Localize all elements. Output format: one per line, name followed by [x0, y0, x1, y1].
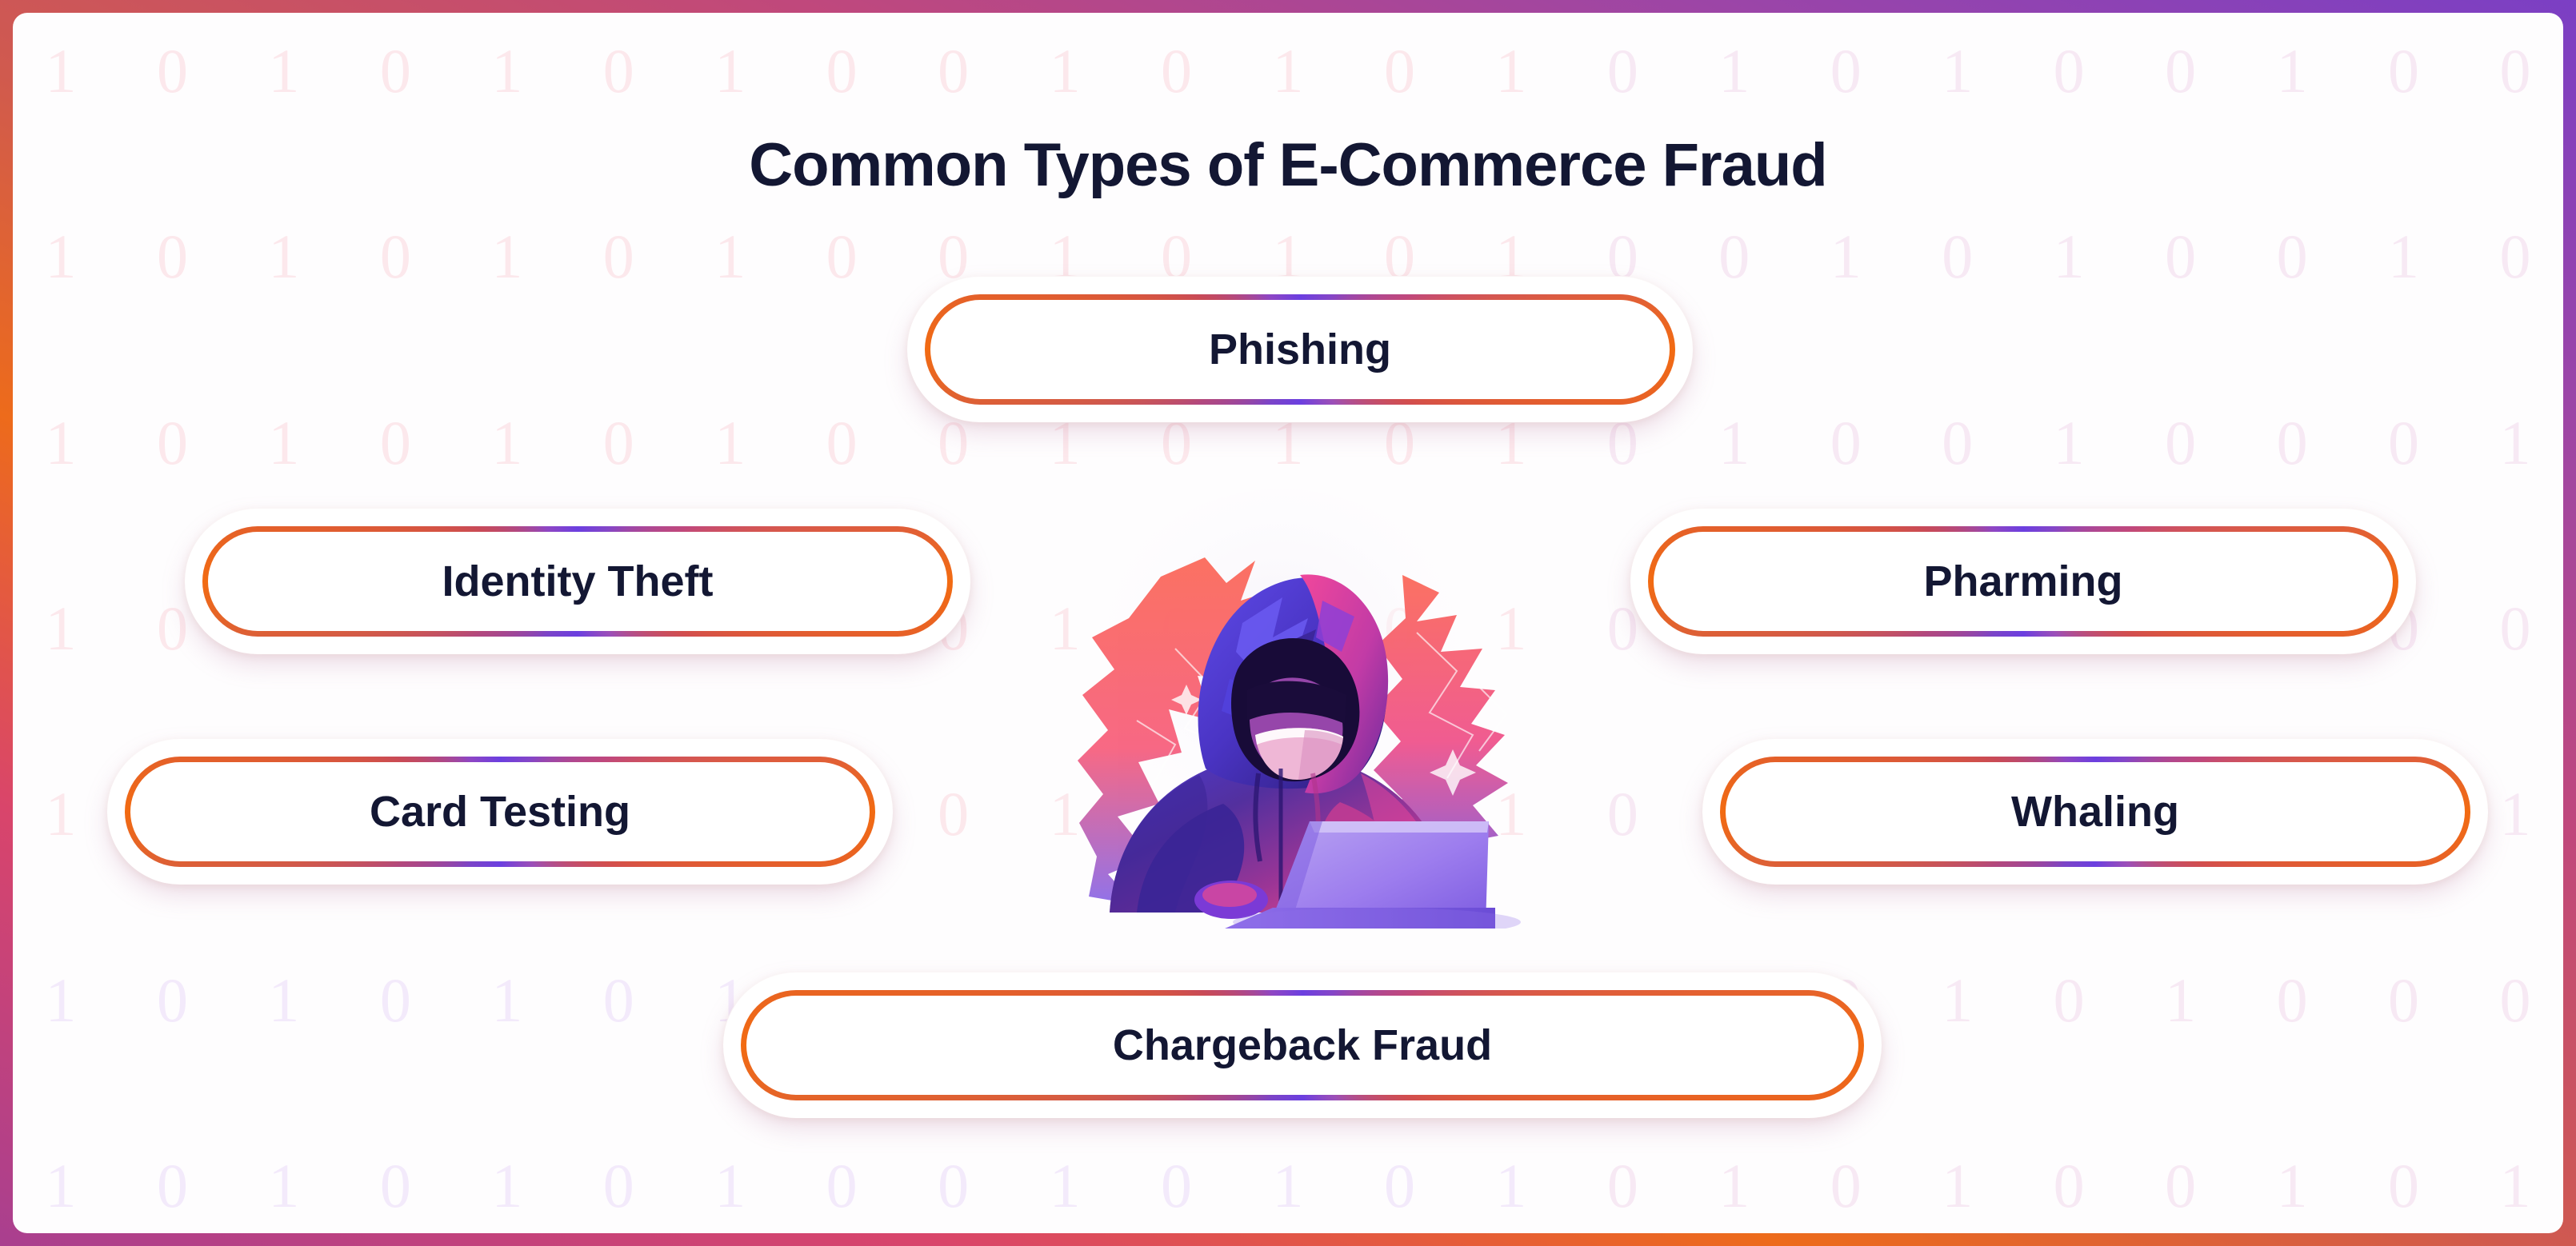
binary-digit: 1 — [706, 412, 754, 474]
fraud-pill-label: Phishing — [1209, 328, 1391, 371]
binary-digit: 0 — [1153, 40, 1201, 102]
page-title: Common Types of E-Commerce Fraud — [13, 130, 2563, 200]
binary-digit: 0 — [2045, 969, 2093, 1032]
fraud-pill-label: Pharming — [1923, 560, 2122, 603]
binary-digit: 0 — [594, 969, 642, 1032]
fraud-pill-label: Identity Theft — [442, 560, 714, 603]
pill-gradient-ring: Pharming — [1648, 526, 2398, 637]
binary-digit: 0 — [2045, 1155, 2093, 1217]
pill-gradient-ring: Chargeback Fraud — [741, 990, 1864, 1100]
binary-digit: 0 — [2268, 969, 2316, 1032]
binary-digit: 1 — [483, 969, 531, 1032]
binary-digit: 1 — [260, 1155, 308, 1217]
binary-digit: 0 — [1822, 1155, 1870, 1217]
binary-digit: 1 — [1822, 226, 1870, 288]
binary-digit: 1 — [1041, 1155, 1089, 1217]
binary-digit: 0 — [148, 1155, 196, 1217]
binary-digit: 1 — [260, 412, 308, 474]
binary-digit: 0 — [1598, 783, 1646, 845]
binary-digit: 0 — [2491, 40, 2539, 102]
binary-digit: 0 — [930, 40, 978, 102]
binary-digit: 1 — [1934, 40, 1982, 102]
fraud-pill-identity-theft[interactable]: Identity Theft — [185, 509, 970, 654]
binary-digit: 1 — [2380, 226, 2428, 288]
binary-digit: 0 — [371, 1155, 419, 1217]
binary-digit: 0 — [818, 1155, 866, 1217]
binary-digit: 1 — [2491, 412, 2539, 474]
binary-row: 10101010010101010100100 — [37, 40, 2539, 102]
pill-gradient-ring: Phishing — [925, 294, 1675, 405]
pill-gradient-ring: Identity Theft — [202, 526, 953, 637]
fraud-pill-pharming[interactable]: Pharming — [1630, 509, 2416, 654]
binary-digit: 1 — [1934, 969, 1982, 1032]
binary-digit: 1 — [1934, 1155, 1982, 1217]
binary-digit: 1 — [2157, 969, 2205, 1032]
binary-digit: 0 — [148, 969, 196, 1032]
fraud-pill-label: Card Testing — [370, 790, 630, 833]
binary-digit: 1 — [37, 969, 85, 1032]
binary-digit: 0 — [2380, 969, 2428, 1032]
binary-digit: 0 — [2045, 40, 2093, 102]
binary-row: 10101010010101010100101 — [37, 1155, 2539, 1217]
binary-digit: 0 — [1934, 226, 1982, 288]
binary-digit: 0 — [371, 40, 419, 102]
binary-digit: 0 — [930, 783, 978, 845]
fraud-pill-label: Whaling — [2011, 790, 2179, 833]
binary-digit: 0 — [2491, 226, 2539, 288]
binary-digit: 0 — [148, 40, 196, 102]
binary-digit: 1 — [2268, 40, 2316, 102]
fraud-pill-card-testing[interactable]: Card Testing — [107, 739, 893, 885]
binary-digit: 0 — [2268, 226, 2316, 288]
binary-digit: 1 — [1710, 1155, 1758, 1217]
binary-digit: 0 — [148, 412, 196, 474]
binary-digit: 0 — [2157, 412, 2205, 474]
binary-digit: 1 — [37, 226, 85, 288]
binary-digit: 1 — [2268, 1155, 2316, 1217]
infographic-root: 1010101001010101010010010101010010101001… — [0, 0, 2576, 1246]
binary-digit: 1 — [1264, 1155, 1312, 1217]
binary-digit: 0 — [2380, 1155, 2428, 1217]
pill-gradient-ring: Card Testing — [125, 757, 875, 867]
binary-digit: 0 — [594, 226, 642, 288]
binary-digit: 0 — [1822, 40, 1870, 102]
binary-digit: 1 — [1264, 40, 1312, 102]
binary-digit: 1 — [37, 783, 85, 845]
binary-digit: 1 — [37, 597, 85, 660]
binary-digit: 1 — [1041, 40, 1089, 102]
binary-digit: 1 — [483, 1155, 531, 1217]
binary-digit: 0 — [2380, 40, 2428, 102]
binary-digit: 1 — [260, 226, 308, 288]
infographic-canvas: 1010101001010101010010010101010010101001… — [13, 13, 2563, 1233]
binary-digit: 1 — [37, 40, 85, 102]
binary-digit: 1 — [483, 412, 531, 474]
binary-digit: 0 — [1934, 412, 1982, 474]
binary-digit: 0 — [818, 412, 866, 474]
binary-digit: 0 — [2491, 597, 2539, 660]
binary-digit: 0 — [818, 40, 866, 102]
binary-digit: 0 — [1822, 412, 1870, 474]
binary-digit: 0 — [371, 412, 419, 474]
binary-digit: 1 — [37, 412, 85, 474]
binary-digit: 0 — [594, 412, 642, 474]
binary-digit: 0 — [2157, 1155, 2205, 1217]
binary-digit: 1 — [1710, 40, 1758, 102]
binary-digit: 0 — [371, 226, 419, 288]
binary-digit: 1 — [483, 226, 531, 288]
binary-digit: 0 — [1375, 40, 1423, 102]
binary-digit: 0 — [2157, 40, 2205, 102]
binary-digit: 0 — [594, 1155, 642, 1217]
binary-digit: 1 — [260, 40, 308, 102]
binary-digit: 0 — [930, 1155, 978, 1217]
binary-digit: 1 — [2491, 1155, 2539, 1217]
binary-digit: 1 — [483, 40, 531, 102]
binary-digit: 0 — [2491, 969, 2539, 1032]
binary-digit: 1 — [1487, 40, 1535, 102]
binary-digit: 1 — [2491, 783, 2539, 845]
hacker-illustration — [1041, 481, 1521, 929]
binary-digit: 0 — [1598, 1155, 1646, 1217]
binary-digit: 0 — [1710, 226, 1758, 288]
fraud-pill-phishing[interactable]: Phishing — [907, 277, 1693, 422]
binary-digit: 0 — [1598, 40, 1646, 102]
binary-digit: 1 — [2045, 226, 2093, 288]
binary-digit: 1 — [1487, 1155, 1535, 1217]
binary-digit: 1 — [706, 40, 754, 102]
binary-digit: 0 — [2380, 412, 2428, 474]
binary-digit: 0 — [2268, 412, 2316, 474]
fraud-pill-label: Chargeback Fraud — [1113, 1024, 1492, 1067]
binary-digit: 1 — [2045, 412, 2093, 474]
fraud-pill-whaling[interactable]: Whaling — [1702, 739, 2488, 885]
binary-digit: 1 — [260, 969, 308, 1032]
binary-digit: 0 — [371, 969, 419, 1032]
binary-digit: 1 — [706, 1155, 754, 1217]
binary-digit: 0 — [594, 40, 642, 102]
binary-digit: 1 — [37, 1155, 85, 1217]
binary-digit: 0 — [818, 226, 866, 288]
binary-digit: 0 — [148, 226, 196, 288]
binary-digit: 0 — [1375, 1155, 1423, 1217]
binary-digit: 0 — [2157, 226, 2205, 288]
pill-gradient-ring: Whaling — [1720, 757, 2470, 867]
binary-digit: 0 — [1153, 1155, 1201, 1217]
fraud-pill-chargeback-fraud[interactable]: Chargeback Fraud — [723, 972, 1882, 1118]
binary-digit: 1 — [706, 226, 754, 288]
binary-digit: 1 — [1710, 412, 1758, 474]
